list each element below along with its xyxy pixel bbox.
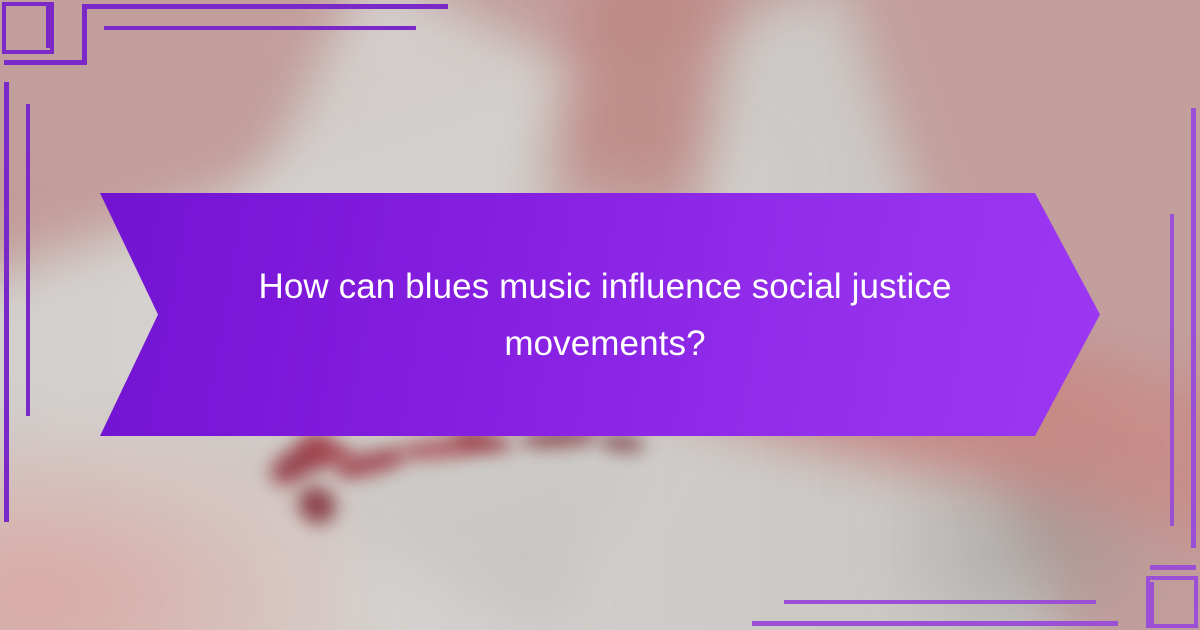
corner-rule-horizontal-thin xyxy=(104,26,416,30)
corner-rule-vertical-thin xyxy=(26,104,30,416)
corner-rule-vertical-thick xyxy=(4,82,9,522)
social-share-card: How can blues music influence social jus… xyxy=(0,0,1200,630)
corner-rule-horizontal-thin xyxy=(784,600,1096,604)
corner-rule-horizontal-thick xyxy=(82,4,448,9)
corner-bracket-bottom-right xyxy=(1030,460,1200,630)
corner-elbow-horizontal xyxy=(4,60,50,65)
corner-rule-vertical-thick xyxy=(1191,108,1196,548)
headline-ribbon: How can blues music influence social jus… xyxy=(100,193,1100,436)
corner-bracket-top-left xyxy=(0,0,170,170)
corner-square-stem xyxy=(46,4,51,48)
corner-elbow-horizontal xyxy=(46,60,86,65)
corner-rule-horizontal-thick xyxy=(752,621,1118,626)
corner-elbow-horizontal xyxy=(1150,565,1196,570)
headline-text: How can blues music influence social jus… xyxy=(215,258,985,372)
corner-rule-vertical-thin xyxy=(1170,214,1174,526)
corner-elbow-vertical xyxy=(82,4,87,65)
corner-square-stem xyxy=(1149,582,1154,626)
